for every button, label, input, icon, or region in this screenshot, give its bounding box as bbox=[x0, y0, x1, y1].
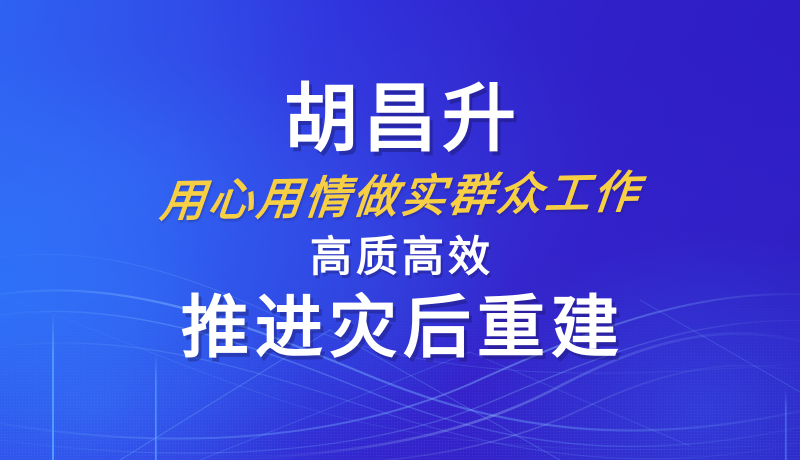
calligraphy-slogan: 用心用情做实群众工作 bbox=[156, 169, 645, 223]
subheading-text: 高质高效 bbox=[306, 236, 494, 278]
news-banner: 胡昌升 用心用情做实群众工作 高质高效 推进灾后重建 bbox=[0, 0, 800, 460]
person-name-title: 胡昌升 bbox=[279, 82, 521, 156]
banner-text-stack: 胡昌升 用心用情做实群众工作 高质高效 推进灾后重建 bbox=[0, 0, 800, 460]
main-headline-text: 推进灾后重建 bbox=[175, 294, 625, 362]
